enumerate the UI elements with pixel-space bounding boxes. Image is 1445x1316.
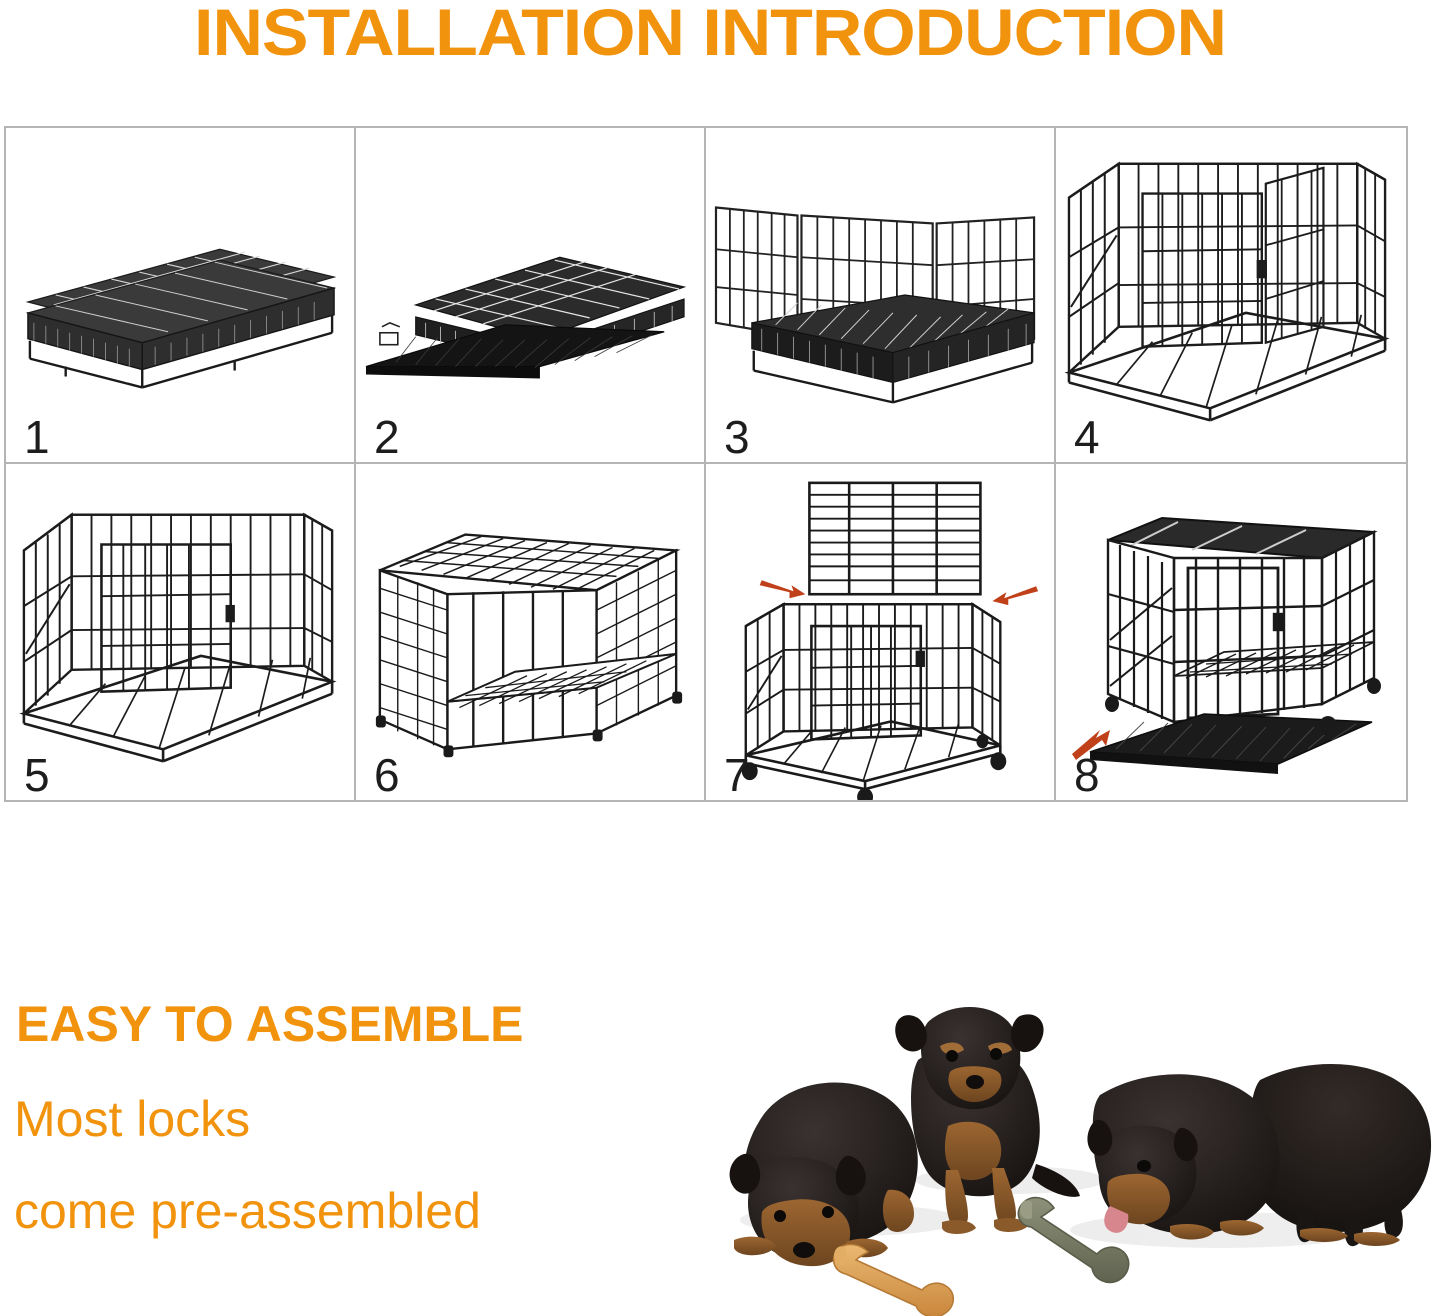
step-cell-3: 3 [706,128,1056,464]
arrow-right [992,586,1038,605]
step-number: 5 [24,752,50,798]
step-number: 3 [724,414,750,460]
step-cell-4: 4 [1056,128,1406,464]
box-with-door-closed-illustration [6,464,354,800]
easy-to-assemble-heading: EASY TO ASSEMBLE [16,995,524,1053]
page-title: INSTALLATION INTRODUCTION [0,0,1445,70]
step-cell-2: 2 [356,128,706,464]
flat-packed-panel-stack-illustration [6,128,354,462]
cage-with-top-grid-illustration [356,464,704,800]
step-number: 6 [374,752,400,798]
step-number: 7 [724,752,750,798]
step-number: 1 [24,414,50,460]
step-cell-8: 8 [1056,464,1406,800]
finished-cage-with-tray-illustration [1056,464,1406,800]
panels-lifted-from-base-illustration [706,128,1054,462]
promo-line-2: come pre-assembled [14,1182,481,1240]
step-number: 8 [1074,752,1100,798]
step-number: 4 [1074,414,1100,460]
step-number: 2 [374,414,400,460]
tray-removed-from-stack-illustration [356,128,704,462]
step-cell-5: 5 [6,464,356,800]
four-panels-open-box-illustration [1056,128,1406,462]
step-cell-7: 7 [706,464,1056,800]
step-cell-1: 1 [6,128,356,464]
top-panel-lowering-illustration [706,464,1054,800]
installation-steps-grid: 1 [4,126,1408,802]
step-cell-6: 6 [356,464,706,800]
arrow-left [760,580,806,598]
puppies-photo [700,930,1445,1316]
puppy-center-right [1087,1074,1279,1239]
promo-line-1: Most locks [14,1090,250,1148]
